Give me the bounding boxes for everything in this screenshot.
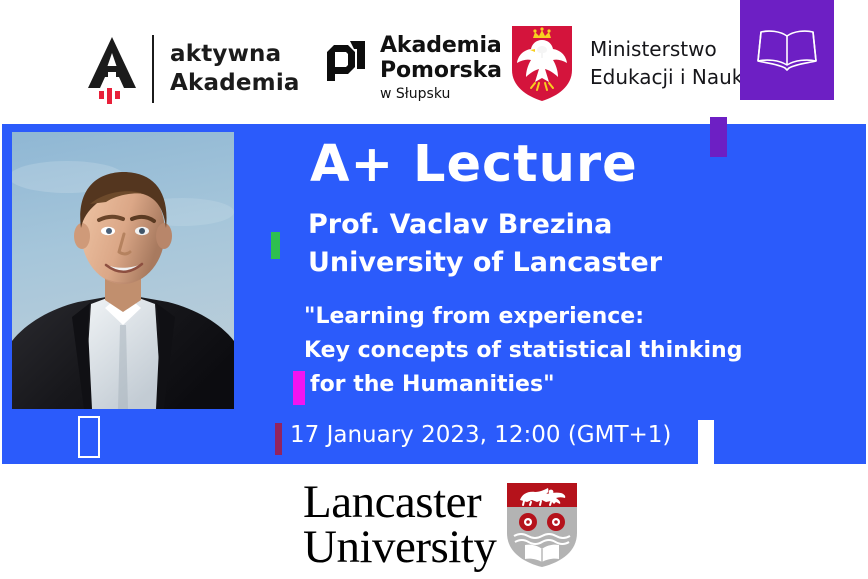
polish-coat-of-arms-icon	[508, 24, 576, 102]
lecture-datetime: 17 January 2023, 12:00 (GMT+1)	[290, 422, 671, 450]
lancaster-line1: Lancaster	[303, 480, 496, 525]
logo-akademia-pomorska: Akademia Pomorska w Słupsku	[324, 34, 502, 106]
main-blue-panel: A+ Lecture Prof. Vaclav Brezina Universi…	[2, 124, 866, 464]
pomorska-line1: Akademia	[380, 34, 502, 59]
lecture-title: A+ Lecture	[310, 138, 638, 192]
ap-monogram-icon	[324, 38, 368, 84]
header-logo-strip: aktywna Akademia Akademia Pomorska w Słu…	[0, 0, 868, 124]
talk-title-block: "Learning from experience: Key concepts …	[304, 300, 742, 402]
speaker-name: Prof. Vaclav Brezina	[308, 206, 662, 244]
aktywna-line1: aktywna	[170, 40, 300, 69]
ministerstwo-wordmark: Ministerstwo Edukacji i Nauki	[590, 35, 749, 92]
pomorska-line2: Pomorska	[380, 59, 502, 84]
footer-logo-strip: Lancaster University	[0, 464, 868, 579]
ministerstwo-line1: Ministerstwo	[590, 35, 749, 63]
logo-lancaster-university: Lancaster University	[303, 480, 580, 569]
purple-book-tile	[740, 0, 834, 100]
speaker-block: Prof. Vaclav Brezina University of Lanca…	[308, 206, 662, 283]
lancaster-line2: University	[303, 525, 496, 570]
speaker-portrait	[12, 132, 234, 409]
logo-ministerstwo-edukacji-i-nauki: Ministerstwo Edukacji i Nauki	[508, 24, 749, 102]
green-accent-bar	[271, 232, 280, 259]
aktywna-akademia-wordmark: aktywna Akademia	[170, 40, 300, 99]
talk-title-line1: "Learning from experience:	[304, 300, 742, 334]
talk-title-line3: for the Humanities"	[304, 368, 742, 402]
logo-divider-rule	[152, 35, 154, 103]
lancaster-university-wordmark: Lancaster University	[303, 480, 496, 569]
talk-title-line2: Key concepts of statistical thinking	[304, 334, 742, 368]
purple-accent-tab	[710, 117, 727, 157]
letter-a-mark-icon	[86, 34, 138, 104]
aktywna-line2: Akademia	[170, 69, 300, 98]
white-accent-bar	[698, 420, 714, 465]
outlined-rectangle-accent	[78, 416, 100, 458]
pomorska-line3: w Słupsku	[380, 84, 502, 105]
lancaster-university-crest-icon	[504, 481, 580, 569]
open-book-icon	[755, 27, 819, 73]
maroon-accent-bar	[275, 423, 282, 455]
ministerstwo-line2: Edukacji i Nauki	[590, 63, 749, 91]
speaker-affiliation: University of Lancaster	[308, 244, 662, 282]
akademia-pomorska-wordmark: Akademia Pomorska w Słupsku	[380, 34, 502, 105]
logo-aktywna-akademia: aktywna Akademia	[86, 33, 300, 105]
